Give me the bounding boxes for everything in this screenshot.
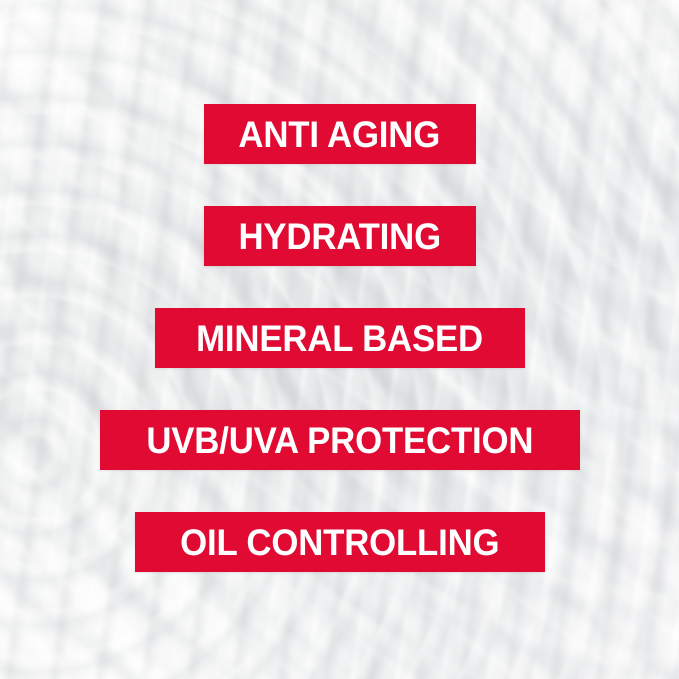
benefit-badge-list: ANTI AGING HYDRATING MINERAL BASED UVB/U… — [0, 0, 679, 679]
benefit-badge-mineral-based: MINERAL BASED — [155, 308, 525, 368]
benefit-label: MINERAL BASED — [196, 320, 483, 357]
benefit-label: OIL CONTROLLING — [180, 524, 499, 561]
benefits-graphic: ANTI AGING HYDRATING MINERAL BASED UVB/U… — [0, 0, 679, 679]
benefit-label: UVB/UVA PROTECTION — [146, 422, 533, 459]
benefit-badge-hydrating: HYDRATING — [204, 206, 476, 266]
benefit-label: HYDRATING — [238, 218, 440, 255]
benefit-badge-anti-aging: ANTI AGING — [204, 104, 476, 164]
benefit-badge-uvb-uva-protection: UVB/UVA PROTECTION — [100, 410, 580, 470]
benefit-badge-oil-controlling: OIL CONTROLLING — [135, 512, 545, 572]
benefit-label: ANTI AGING — [239, 116, 441, 153]
